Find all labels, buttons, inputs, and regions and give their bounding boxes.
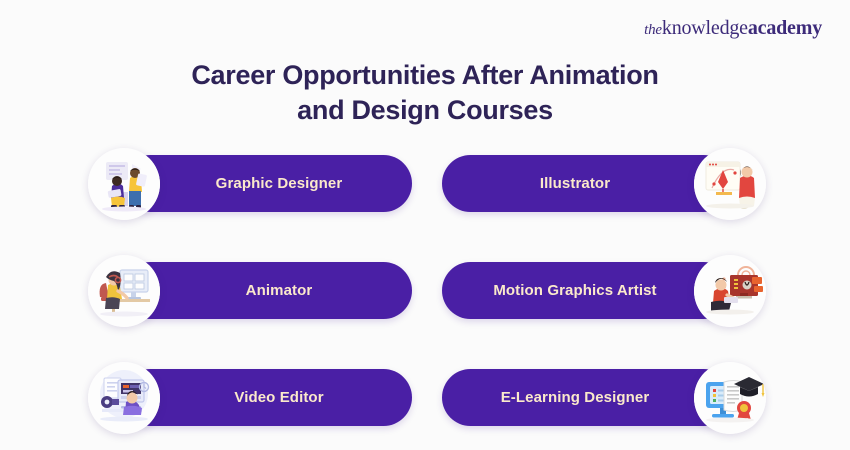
career-card-video-editor[interactable]: Video Editor — [88, 362, 412, 434]
career-card-motion-graphics-artist[interactable]: Motion Graphics Artist — [442, 255, 766, 327]
page-title-line-2: and Design Courses — [0, 93, 850, 128]
career-card-illustrator[interactable]: Illustrator — [442, 148, 766, 220]
logo-knowledge-text: knowledge — [662, 17, 748, 39]
career-card-animator[interactable]: Animator — [88, 255, 412, 327]
career-pill-motion-graphics-artist[interactable]: Motion Graphics Artist — [442, 262, 732, 319]
graphic-designer-illustration-icon — [88, 148, 160, 220]
career-pill-e-learning-designer[interactable]: E-Learning Designer — [442, 369, 732, 426]
career-pill-animator[interactable]: Animator — [122, 262, 412, 319]
career-card-graphic-designer[interactable]: Graphic Designer — [88, 148, 412, 220]
career-pill-illustrator[interactable]: Illustrator — [442, 155, 732, 212]
career-label: E-Learning Designer — [501, 389, 650, 406]
career-label: Animator — [246, 282, 313, 299]
career-pill-graphic-designer[interactable]: Graphic Designer — [122, 155, 412, 212]
logo-academy-text: academy — [748, 17, 822, 39]
logo-the-text: the — [644, 22, 662, 38]
career-label: Motion Graphics Artist — [493, 282, 656, 299]
motion-graphics-screen-illustration-icon — [694, 255, 766, 327]
career-card-e-learning-designer[interactable]: E-Learning Designer — [442, 362, 766, 434]
career-cards-grid: Graphic Designer — [88, 148, 766, 434]
page-title: Career Opportunities After Animation and… — [0, 58, 850, 127]
illustrator-pen-tool-illustration-icon — [694, 148, 766, 220]
e-learning-graduation-cap-illustration-icon — [694, 362, 766, 434]
career-pill-video-editor[interactable]: Video Editor — [122, 369, 412, 426]
video-editor-timeline-illustration-icon — [88, 362, 160, 434]
career-label: Illustrator — [540, 175, 610, 192]
animator-at-monitor-illustration-icon — [88, 255, 160, 327]
infographic-page: theknowledgeacademy Career Opportunities… — [0, 0, 850, 450]
page-title-line-1: Career Opportunities After Animation — [191, 60, 658, 90]
career-label: Graphic Designer — [216, 175, 343, 192]
brand-logo: theknowledgeacademy — [644, 18, 822, 38]
career-label: Video Editor — [234, 389, 323, 406]
